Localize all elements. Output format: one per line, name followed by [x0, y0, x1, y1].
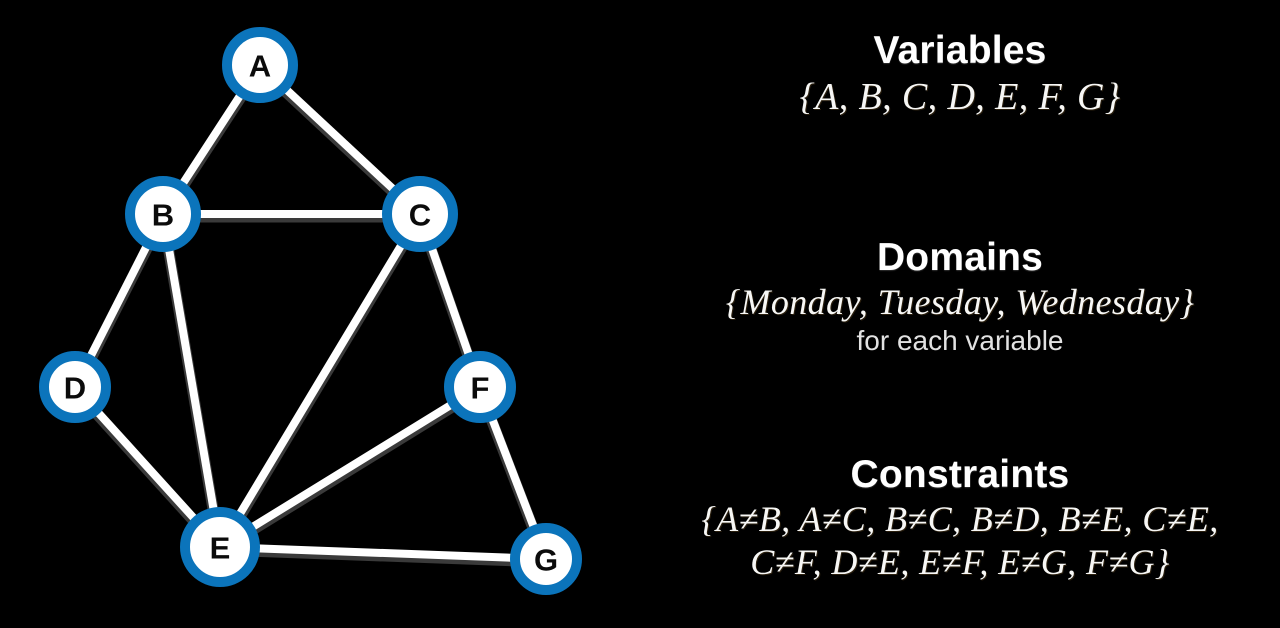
graph-edge-c-e	[220, 214, 420, 547]
node-label-f: F	[471, 371, 490, 406]
graph-node-d[interactable]: D	[44, 356, 106, 418]
domains-set: {Monday, Tuesday, Wednesday}	[640, 281, 1280, 324]
node-label-a: A	[249, 49, 271, 84]
graph-node-c[interactable]: C	[387, 181, 453, 247]
slide-root: ABCDEFG Variables {A, B, C, D, E, F, G} …	[0, 0, 1280, 628]
constraints-set: {A≠B, A≠C, B≠C, B≠D, B≠E, C≠E, C≠F, D≠E,…	[640, 498, 1280, 584]
graph-edge-e-f	[220, 387, 480, 547]
node-label-c: C	[409, 198, 431, 233]
constraints-heading: Constraints	[640, 452, 1280, 498]
definition-panel: Variables {A, B, C, D, E, F, G} Domains …	[640, 0, 1280, 628]
graph-node-b[interactable]: B	[130, 181, 196, 247]
node-label-d: D	[64, 371, 86, 406]
node-label-g: G	[534, 543, 558, 578]
variables-block: Variables {A, B, C, D, E, F, G}	[640, 28, 1280, 121]
domains-block: Domains {Monday, Tuesday, Wednesday} for…	[640, 235, 1280, 358]
edge-layer	[75, 65, 546, 559]
graph-node-e[interactable]: E	[185, 512, 255, 582]
variables-heading: Variables	[640, 28, 1280, 74]
graph-node-a[interactable]: A	[227, 32, 293, 98]
domains-note: for each variable	[640, 324, 1280, 358]
domains-heading: Domains	[640, 235, 1280, 281]
constraint-graph: ABCDEFG	[0, 0, 640, 628]
graph-node-f[interactable]: F	[449, 356, 511, 418]
variables-set: {A, B, C, D, E, F, G}	[640, 74, 1280, 121]
node-label-b: B	[152, 198, 174, 233]
node-label-e: E	[210, 531, 231, 566]
constraints-set-line-2: C≠F, D≠E, E≠F, E≠G, F≠G}	[640, 541, 1280, 584]
graph-node-g[interactable]: G	[515, 528, 577, 590]
constraints-block: Constraints {A≠B, A≠C, B≠C, B≠D, B≠E, C≠…	[640, 452, 1280, 584]
constraints-set-line-1: {A≠B, A≠C, B≠C, B≠D, B≠E, C≠E,	[640, 498, 1280, 541]
constraint-graph-panel: ABCDEFG	[0, 0, 640, 628]
